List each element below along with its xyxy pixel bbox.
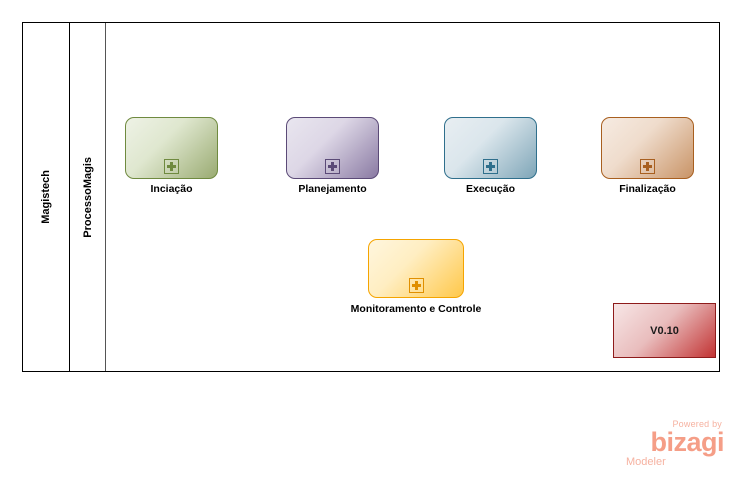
plus-icon bbox=[409, 278, 424, 293]
task-monitoramento-e-controle[interactable] bbox=[368, 239, 464, 298]
plus-icon bbox=[483, 159, 498, 174]
pool-label: Magistech bbox=[40, 170, 52, 224]
task-finalizacao-label: Finalização bbox=[598, 183, 697, 195]
task-iniciacao-label: Inciação bbox=[125, 183, 218, 195]
task-iniciacao[interactable] bbox=[125, 117, 218, 179]
logo-product-text: Modeler bbox=[624, 456, 724, 468]
pool-header: Magistech bbox=[23, 23, 70, 371]
plus-icon bbox=[325, 159, 340, 174]
task-monitoramento-e-controle-label: Monitoramento e Controle bbox=[326, 303, 506, 315]
task-execucao-label: Execução bbox=[444, 183, 537, 195]
lane-label: ProcessoMagis bbox=[82, 157, 94, 238]
task-execucao[interactable] bbox=[444, 117, 537, 179]
logo-brand-text: bizagi bbox=[624, 429, 724, 456]
task-planejamento-label: Planejamento bbox=[280, 183, 385, 195]
plus-icon bbox=[640, 159, 655, 174]
task-planejamento[interactable] bbox=[286, 117, 379, 179]
version-badge: V0.10 bbox=[613, 303, 716, 358]
lane-header: ProcessoMagis bbox=[70, 23, 106, 371]
task-finalizacao[interactable] bbox=[601, 117, 694, 179]
diagram-canvas: Magistech ProcessoMagis Inciação Planeja… bbox=[0, 0, 740, 483]
bizagi-logo: Powered by bizagi Modeler bbox=[624, 419, 724, 473]
plus-icon bbox=[164, 159, 179, 174]
